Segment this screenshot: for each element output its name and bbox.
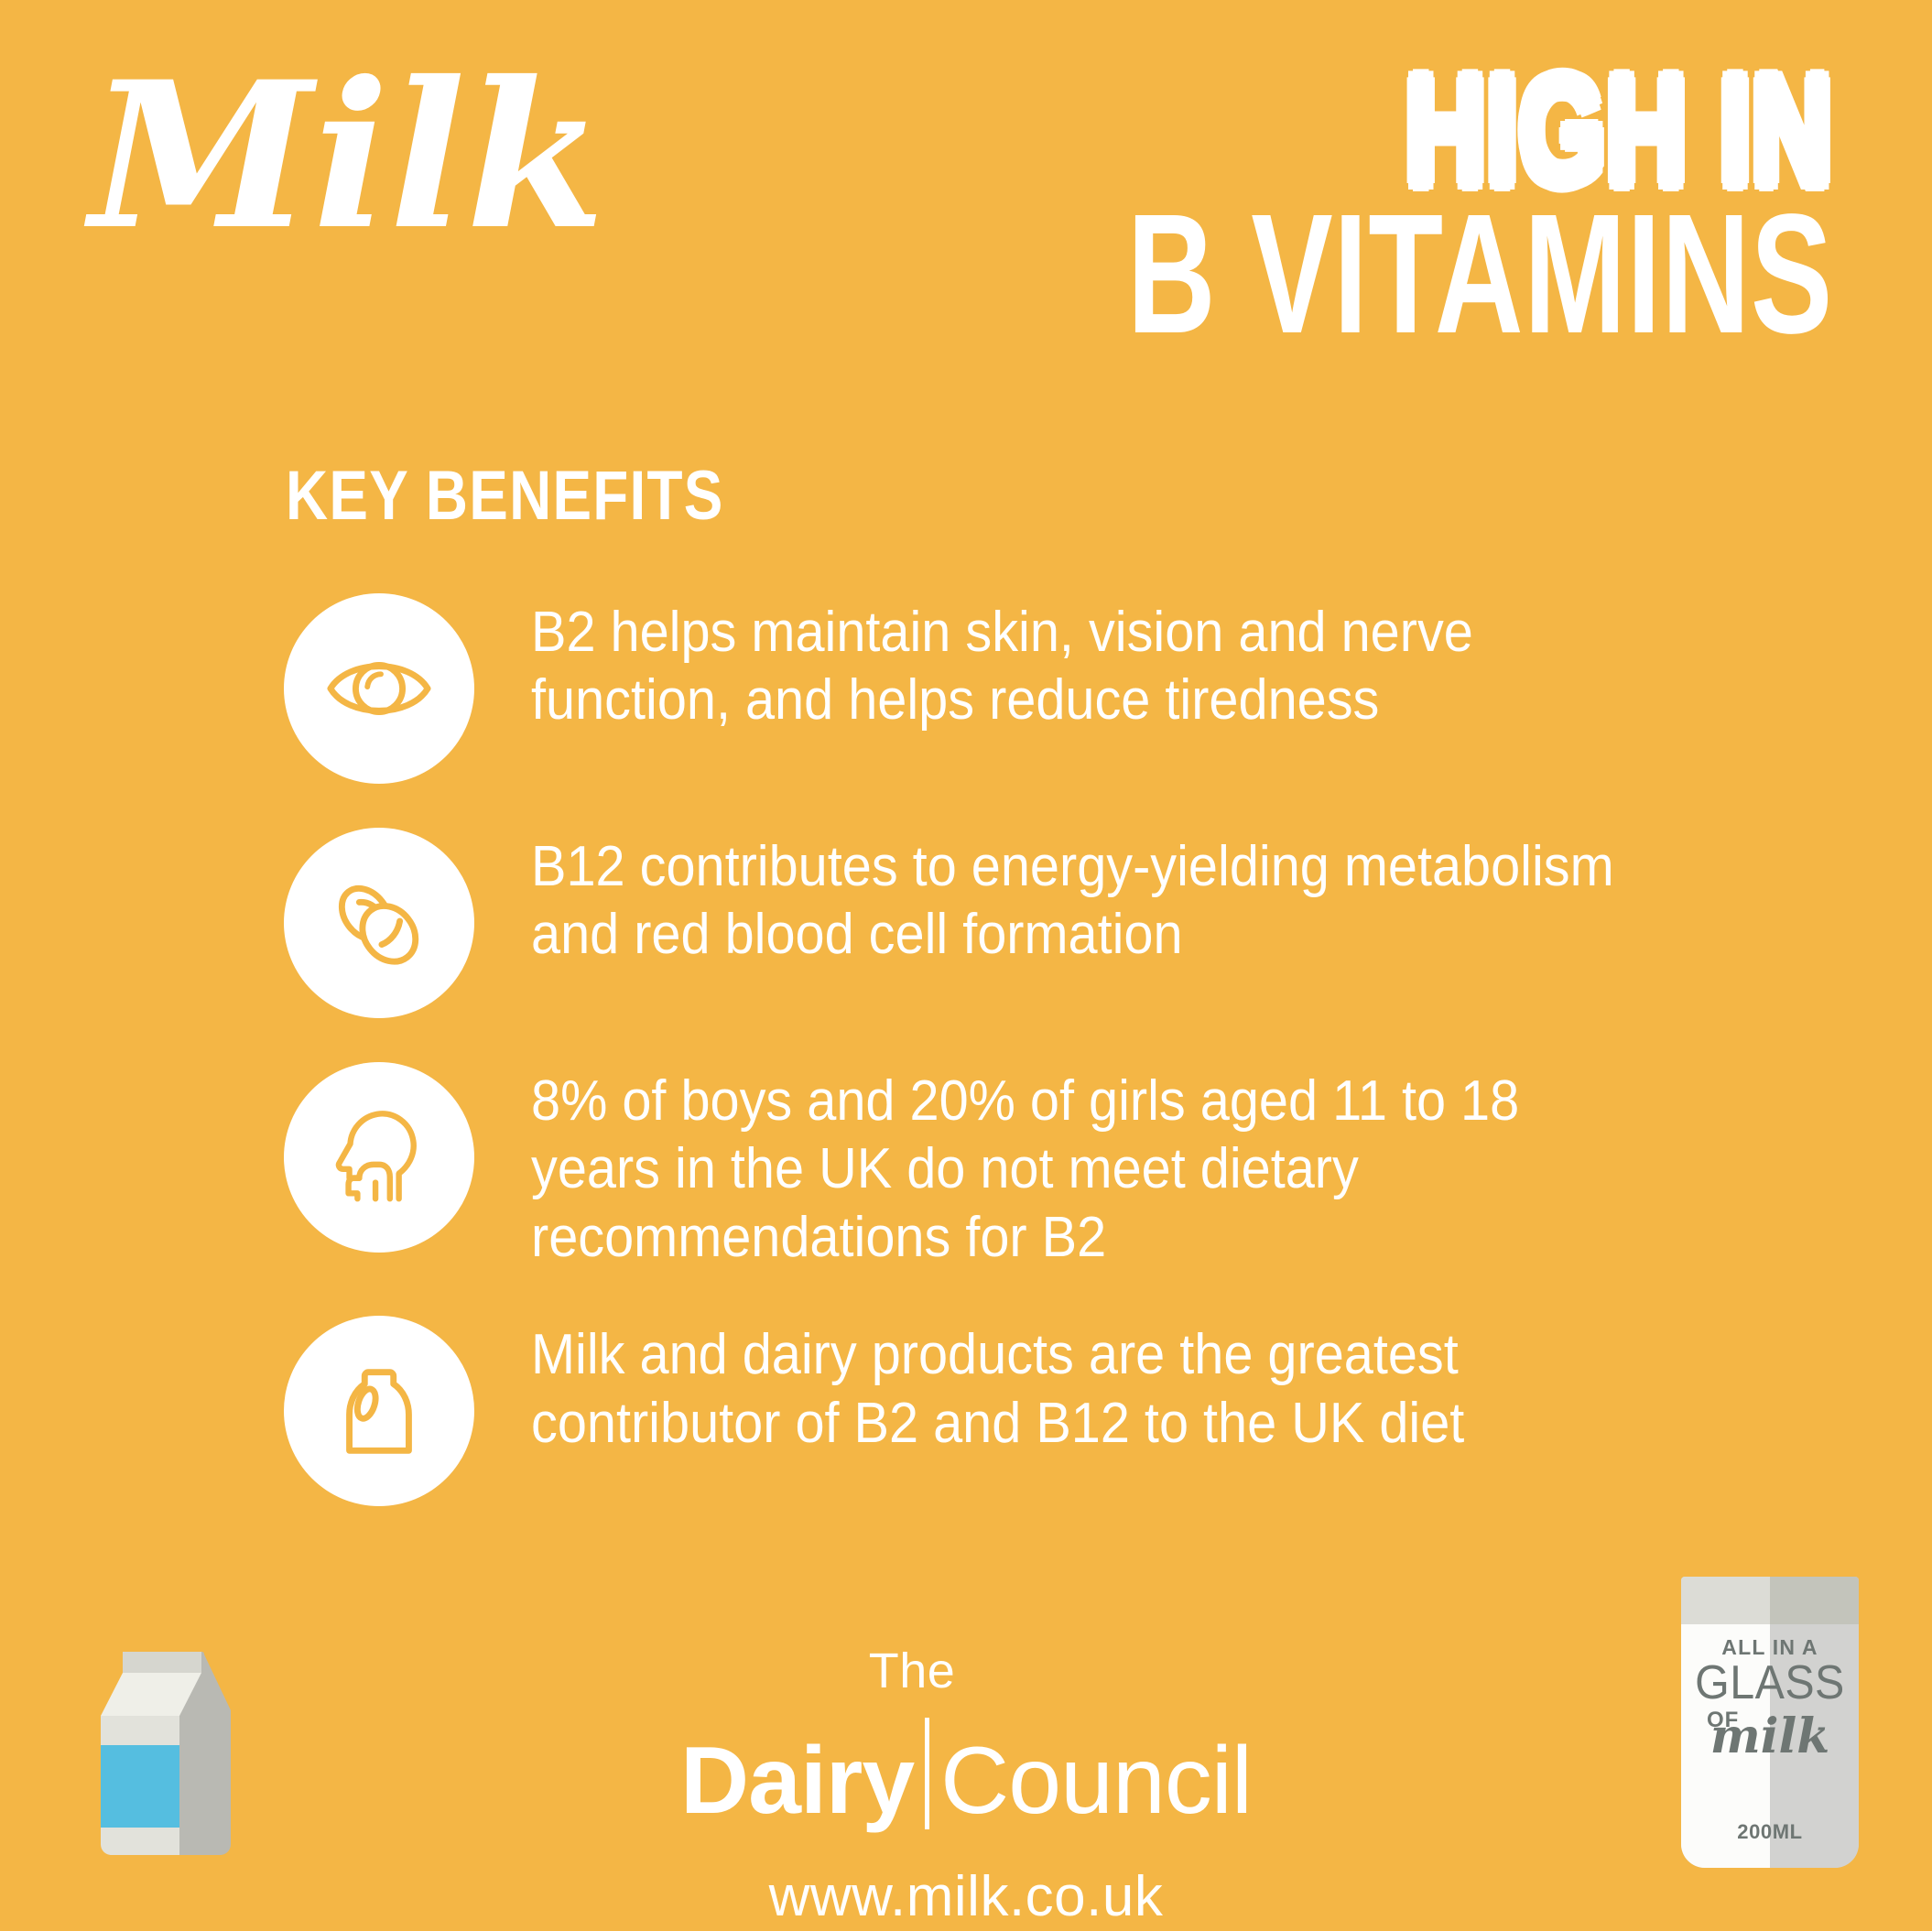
infographic-poster: Milk HIGH IN B VITAMINS KEY BENEFITS B2 … — [0, 0, 1932, 1931]
key-benefits-heading: KEY BENEFITS — [286, 456, 724, 536]
milk-brand-logo: Milk — [81, 48, 667, 286]
benefit-text: B12 contributes to energy-yielding metab… — [531, 828, 1638, 970]
benefit-item-b2-vision: B2 helps maintain skin, vision and nerve… — [284, 593, 1822, 784]
logo-word-council: Council — [940, 1733, 1252, 1828]
benefits-list: B2 helps maintain skin, vision and nerve… — [284, 593, 1822, 1550]
glass-volume-label: 200ML — [1681, 1820, 1859, 1844]
glass-label-line-2: GLASS — [1695, 1659, 1845, 1708]
benefit-text: 8% of boys and 20% of girls aged 11 to 1… — [531, 1062, 1638, 1272]
glass-label-line-1: ALL IN A — [1721, 1637, 1818, 1658]
logo-divider — [925, 1718, 929, 1829]
benefit-item-dairy-contributor: Milk and dairy products are the greatest… — [284, 1316, 1822, 1506]
benefit-text: B2 helps maintain skin, vision and nerve… — [531, 593, 1638, 735]
milk-brand-text: Milk — [83, 37, 605, 274]
logo-main-lockup: Dairy Council — [600, 1701, 1332, 1828]
dairy-council-logo: The Dairy Council www.milk.co.uk — [600, 1646, 1332, 1926]
glass-label-line-4: milk — [1710, 1713, 1830, 1761]
milk-carton-illustration — [84, 1639, 267, 1886]
glass-body: ALL IN A GLASS OF milk 200ML — [1681, 1577, 1859, 1868]
benefit-text: Milk and dairy products are the greatest… — [531, 1316, 1638, 1458]
blood-cells-icon — [284, 828, 474, 1018]
eye-icon — [284, 593, 474, 784]
benefit-item-b12-metabolism: B12 contributes to energy-yielding metab… — [284, 828, 1822, 1018]
benefit-item-uk-intake-stat: 8% of boys and 20% of girls aged 11 to 1… — [284, 1062, 1822, 1272]
glass-of-milk-illustration: ALL IN A GLASS OF milk 200ML — [1681, 1577, 1859, 1868]
website-url[interactable]: www.milk.co.uk — [600, 1869, 1332, 1926]
logo-word-dairy: Dairy — [680, 1733, 914, 1828]
milk-bottle-icon — [284, 1316, 474, 1506]
carton-top-flap — [123, 1652, 201, 1673]
headline: HIGH IN B VITAMINS — [643, 55, 1833, 360]
headline-line-b-vitamins: B VITAMINS — [976, 190, 1833, 360]
logo-word-the: The — [600, 1646, 1224, 1696]
carton-label-band — [101, 1745, 179, 1828]
head-profile-icon — [284, 1062, 474, 1253]
